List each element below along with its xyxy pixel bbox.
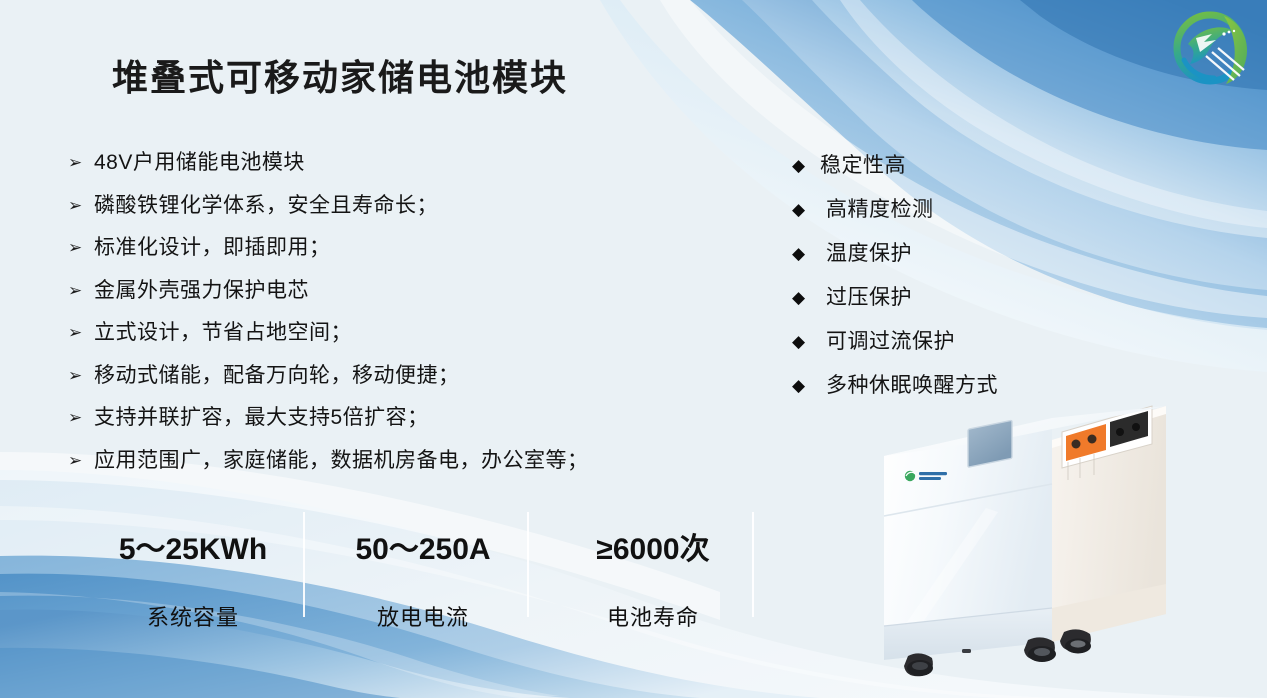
company-logo-icon	[1166, 8, 1258, 88]
diamond-bullet-icon: ◆	[792, 372, 826, 399]
feature-list-left: ➢ 48V户用储能电池模块 ➢ 磷酸铁锂化学体系，安全且寿命长； ➢ 标准化设计…	[68, 150, 718, 490]
list-item-label: 立式设计，节省占地空间；	[94, 320, 352, 346]
list-item: ◆ 温度保护	[792, 240, 1072, 267]
list-item-label: 稳定性高	[820, 152, 906, 179]
product-image-battery-cabinet	[866, 388, 1226, 688]
diamond-bullet-icon: ◆	[792, 152, 820, 179]
list-item: ➢ 立式设计，节省占地空间；	[68, 320, 718, 346]
slide-canvas: 堆叠式可移动家储电池模块 ➢ 48V户用储能电池模块 ➢ 磷酸铁锂化学体系，安全…	[0, 0, 1267, 698]
list-item: ◆ 过压保护	[792, 284, 1072, 311]
list-item-label: 金属外壳强力保护电芯	[94, 278, 309, 304]
spec-stats-row: 5～25KWh 系统容量 50～250A 放电电流 ≥6000次 电池寿命	[78, 512, 768, 622]
list-item: ➢ 金属外壳强力保护电芯	[68, 278, 718, 304]
list-item: ➢ 支持并联扩容，最大支持5倍扩容；	[68, 405, 718, 431]
arrow-bullet-icon: ➢	[68, 278, 94, 304]
list-item: ◆ 稳定性高	[792, 152, 1072, 179]
list-item: ➢ 48V户用储能电池模块	[68, 150, 718, 176]
lcd-display-panel	[968, 420, 1012, 467]
arrow-bullet-icon: ➢	[68, 363, 94, 389]
list-item: ➢ 应用范围广，家庭储能，数据机房备电，办公室等；	[68, 448, 718, 474]
stat-value: 5～25KWh	[119, 524, 267, 568]
feature-list-right: ◆ 稳定性高 ◆ 高精度检测 ◆ 温度保护 ◆ 过压保护 ◆ 可调过流保护 ◆ …	[792, 152, 1072, 416]
list-item-label: 标准化设计，即插即用；	[94, 235, 331, 261]
stat-label: 系统容量	[147, 600, 239, 632]
list-item-label: 高精度检测	[826, 196, 934, 223]
page-title: 堆叠式可移动家储电池模块	[112, 56, 568, 99]
list-item: ◆ 高精度检测	[792, 196, 1072, 223]
arrow-bullet-icon: ➢	[68, 150, 94, 176]
diamond-bullet-icon: ◆	[792, 196, 826, 223]
list-item-label: 应用范围广，家庭储能，数据机房备电，办公室等；	[94, 448, 589, 474]
stat-value: 50～250A	[355, 524, 490, 568]
stat-capacity: 5～25KWh 系统容量	[78, 512, 308, 622]
diamond-bullet-icon: ◆	[792, 240, 826, 267]
stat-label: 电池寿命	[607, 600, 699, 632]
list-item: ◆ 可调过流保护	[792, 328, 1072, 355]
list-item: ➢ 磷酸铁锂化学体系，安全且寿命长；	[68, 193, 718, 219]
diamond-bullet-icon: ◆	[792, 284, 826, 311]
caster-wheel-icon	[1024, 637, 1056, 662]
arrow-bullet-icon: ➢	[68, 405, 94, 431]
list-item: ➢ 标准化设计，即插即用；	[68, 235, 718, 261]
list-item-label: 温度保护	[826, 240, 912, 267]
stat-label: 放电电流	[377, 600, 469, 632]
arrow-bullet-icon: ➢	[68, 448, 94, 474]
list-item-label: 磷酸铁锂化学体系，安全且寿命长；	[94, 193, 438, 219]
stat-cycle-life: ≥6000次 电池寿命	[538, 512, 768, 622]
caster-wheel-icon	[1060, 629, 1091, 653]
list-item-label: 支持并联扩容，最大支持5倍扩容；	[94, 405, 429, 431]
list-item-label: 48V户用储能电池模块	[94, 150, 305, 176]
list-item-label: 可调过流保护	[826, 328, 955, 355]
arrow-bullet-icon: ➢	[68, 193, 94, 219]
caster-wheel-icon	[904, 653, 933, 676]
stat-value: ≥6000次	[596, 524, 709, 568]
arrow-bullet-icon: ➢	[68, 235, 94, 261]
stat-discharge-current: 50～250A 放电电流	[308, 512, 538, 622]
diamond-bullet-icon: ◆	[792, 328, 826, 355]
arrow-bullet-icon: ➢	[68, 320, 94, 346]
list-item-label: 过压保护	[826, 284, 912, 311]
list-item: ➢ 移动式储能，配备万向轮，移动便捷；	[68, 363, 718, 389]
list-item-label: 移动式储能，配备万向轮，移动便捷；	[94, 363, 460, 389]
